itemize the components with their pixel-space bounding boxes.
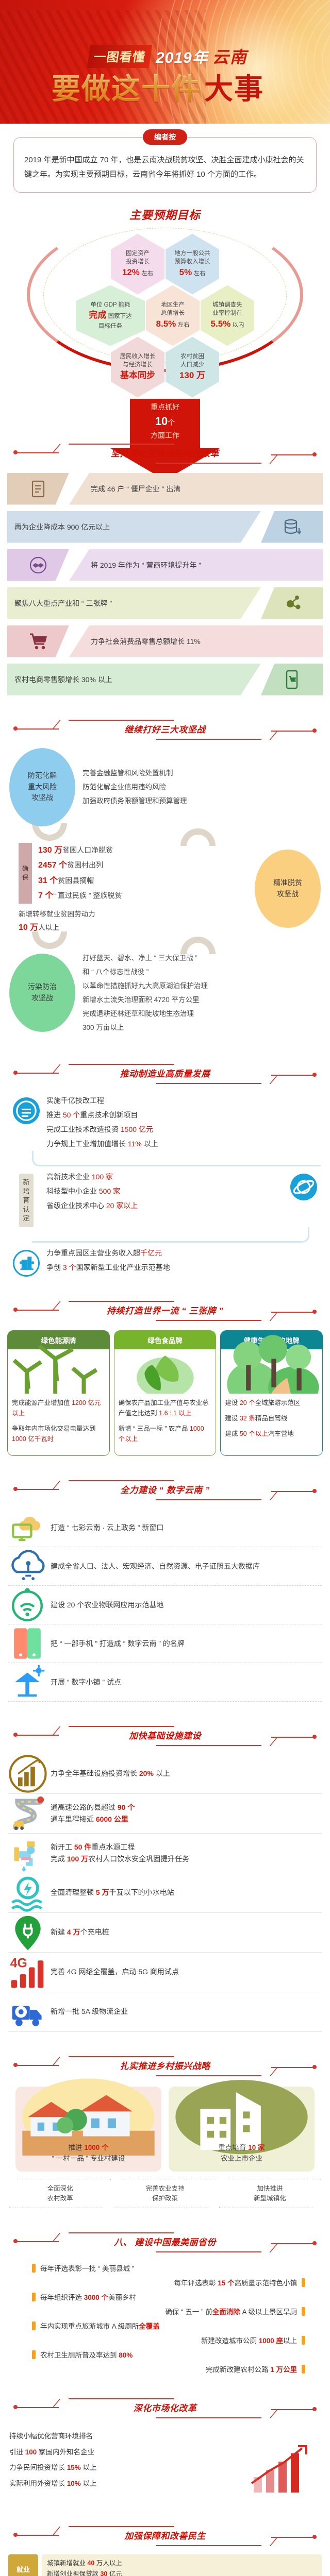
section-title: 八、 建设中国最美丽省份	[114, 2235, 216, 2248]
header-dot-right	[312, 2535, 317, 2539]
hydropower-icon	[8, 1873, 47, 1912]
digital-icon	[8, 1586, 46, 1624]
target-suffix: 左右	[177, 322, 189, 328]
ribbon-icon-box	[261, 511, 323, 543]
editor-note: 编者按 2019 年是新中国成立 70 年，也是云南决战脱贫攻坚、决胜全面建成小…	[13, 137, 317, 193]
target-label: 固定资产投资增长	[126, 249, 150, 266]
brand-card-item: 争取年内市场化交易电量达到 1000 亿千瓦时	[12, 1423, 105, 1444]
battle-point: 新增水土流失治理面积 4720 平方公里	[82, 993, 313, 1007]
block-line: 力争重点园区主营业务收入超千亿元	[46, 1246, 321, 1260]
market-reform-block: 持续小幅优化营商环境排名引进 100 家国内外知名企业力争民间投资增长 15% …	[0, 2425, 330, 2502]
block-line: 争创 3 个国家新型工业化产业示范基地	[46, 1260, 321, 1275]
brand-card-item: 新增 “ 三品一标 ” 农产品 1000 个以上	[119, 1423, 212, 1444]
network-node-icon	[282, 593, 302, 614]
section-title: 继续打好三大攻坚战	[124, 722, 206, 735]
highway-icon	[8, 1794, 47, 1833]
beautiful-item: 每年评选表彰 15 个高质量示范特色小镇	[9, 2277, 321, 2287]
manufacturing-block: 实施千亿技改工程推进 50 个重点技术创新项目完成工业技术改造投资 1500 亿…	[0, 1090, 330, 1151]
battle-row: 污染防治攻坚战打好蓝天、碧水、净土 “ 三大保卫战 ”和 “ 八个标志性战役 ”…	[0, 951, 330, 1035]
section-header-supply-side: 坚持深化供给侧结构性改革	[0, 437, 330, 470]
handshake-icon	[28, 555, 48, 575]
header-dot-right	[312, 728, 317, 733]
infra-icon	[8, 1913, 47, 1952]
ribbon-item[interactable]: 力争社会消费品零售总额增长 11%	[7, 625, 323, 657]
battle-point: 加强政府债务限额管理和预算管理	[82, 794, 313, 808]
cloud-data-icon	[8, 1547, 46, 1585]
section-title: 加快基础设施建设	[129, 1728, 201, 1741]
target-value: 基本同步	[120, 370, 155, 380]
brand-card-body: 确保农产品加工业产值与农业总产值之比达到 1.6 : 1 以上新增 “ 三品一标…	[114, 1394, 216, 1455]
target-value: 8.5%	[156, 319, 176, 329]
infra-item[interactable]: 4G完善 4G 网络全覆盖，启动 5G 商用试点	[8, 1953, 322, 1992]
ribbon-text: 完成 46 户 “ 僵尸企业 ” 出清	[69, 473, 323, 505]
battle-point: 以革命性措施抓好九大高原湖泊保护治理	[82, 979, 313, 993]
brand-card-body: 建设 20 个全域旅游示范区建设 32 条精品自驾线建成 50 个以上汽车营地	[221, 1394, 322, 1455]
digital-text: 把 “ 一部手机 ” 打造成 “ 数字云南 ” 的名牌	[46, 1638, 322, 1649]
target-suffix: 左右	[141, 270, 153, 277]
beautiful-text: 每年组织评选 3000 个美丽乡村	[36, 2292, 141, 2302]
brand-card-art	[221, 1349, 322, 1394]
battle-point: 打好蓝天、碧水、净土 “ 三大保卫战 ”和 “ 八个标志性战役 ”	[82, 951, 313, 979]
growth-arrow-chart	[244, 2440, 322, 2497]
section-header-three-cards: 持续打造世界一流 “ 三张牌 ”	[0, 1294, 330, 1327]
section-title: 持续打造世界一流 “ 三张牌 ”	[107, 1303, 223, 1316]
infra-icon	[8, 1873, 47, 1912]
digital-icon	[8, 1547, 46, 1585]
infra-icon	[8, 1794, 47, 1833]
block-line: 高新技术企业 100 家	[46, 1170, 287, 1184]
editor-note-body: 2019 年是新中国成立 70 年，也是云南决战脱贫攻坚、决胜全面建成小康社会的…	[13, 137, 317, 193]
digital-item[interactable]: 开展 “ 数字小镇 ” 试点	[8, 1663, 322, 1702]
infra-text: 通高速公路的县超过 90 个通车里程接近 6000 公里	[47, 1802, 322, 1825]
arrow-unit: 个	[168, 418, 175, 427]
beautiful-item: 年内实现重点旅游城市 A 级厕所全覆盖	[9, 2320, 321, 2331]
beautiful-text: 农村卫生厕所普及率达到 80%	[36, 2349, 137, 2360]
block-lines: 高新技术企业 100 家科技型中小企业 500 家省级企业技术中心 20 家以上	[43, 1170, 287, 1213]
battle-point: 完善金融监管和风险处置机制	[82, 766, 313, 780]
coin-stack-down-icon	[282, 517, 302, 537]
bullet-bar	[302, 2307, 305, 2316]
brand-card-body: 完成能源产业增加值 1200 亿元以上争取年内市场化交易电量达到 1000 亿千…	[8, 1394, 109, 1455]
beautiful-text: 年内实现重点旅游城市 A 级厕所全覆盖	[36, 2320, 164, 2331]
livelihood-table: 就业城镇新增就业 40 万人以上新增创业担保贷款 30 亿元卫生力争基本医保参保…	[0, 2552, 330, 2576]
infra-item[interactable]: 通高速公路的县超过 90 个通车里程接近 6000 公里	[8, 1794, 322, 1834]
digital-icon	[8, 1624, 46, 1663]
ensure-item: 130 万贫困人口净脱贫	[38, 843, 122, 858]
header-dot-right	[312, 2407, 317, 2411]
market-reform-line: 引进 100 家国内外知名企业	[9, 2445, 231, 2460]
ribbon-icon-box	[7, 549, 69, 581]
targets-hex-grid: 固定资产投资增长12% 左右地方一般公共预算收入增长5% 左右单位 GDP 能耗…	[0, 234, 330, 398]
brand-card[interactable]: 绿色食品牌确保农产品加工业产值与农业总产值之比达到 1.6 : 1 以上新增 “…	[114, 1330, 217, 1456]
digital-item[interactable]: 把 “ 一部手机 ” 打造成 “ 数字云南 ” 的名牌	[8, 1624, 322, 1663]
rural-tags: 全面深化农村改革完善农业支持保护政策加快推进新型城镇化	[0, 2172, 330, 2209]
rural-card-art	[20, 2094, 157, 2138]
digital-item[interactable]: 建设 20 个农业物联网应用示范基地	[8, 1586, 322, 1624]
block-icon: 新培育认定	[9, 1170, 43, 1227]
section-header-rural-revitalization: 扎实推进乡村振兴战略	[0, 2049, 330, 2082]
beautiful-item: 完成新改建农村公路 1 万公里	[9, 2364, 321, 2374]
hero-banner: 一图看懂 2019年 云南 要做这十件 大事	[0, 0, 330, 124]
block-lines: 实施千亿技改工程推进 50 个重点技术创新项目完成工业技术改造投资 1500 亿…	[43, 1093, 321, 1151]
section-title: 深化市场化改革	[134, 2401, 197, 2414]
logistics-truck-icon	[8, 1992, 47, 2031]
infra-text: 新建 4 万个充电桩	[47, 1926, 322, 1938]
rural-card-art	[173, 2094, 310, 2138]
planet-icon	[290, 1174, 317, 1200]
target-hex: 农村贫困人口减少130 万	[166, 337, 219, 398]
ensure-item: 2457 个贫困村出列	[38, 858, 122, 873]
faucet-icon	[8, 1834, 47, 1873]
infra-text: 力争全年基础设施投资增长 20% 以上	[47, 1768, 322, 1780]
main-targets-section: 主要预期目标 固定资产投资增长12% 左右地方一般公共预算收入增长5% 左右单位…	[0, 203, 330, 419]
block-line: 实施千亿技改工程	[46, 1093, 321, 1108]
battle-name-bubble: 防范化解重大风险攻坚战	[9, 748, 75, 826]
target-value: 12%	[122, 267, 140, 277]
infra-icon: 4G	[8, 1953, 47, 1992]
hero-main-a: 要做这十件	[52, 66, 201, 108]
brand-card-item: 建成 50 个以上汽车营地	[225, 1429, 318, 1439]
section-title: 推动制造业高质量发展	[120, 1066, 210, 1079]
hero-headline-top: 一图看懂 2019年 云南	[89, 44, 247, 68]
battle-subnote: 新增转移就业贫困劳动力10 万人以上	[9, 904, 255, 935]
target-value: 130 万	[179, 370, 205, 380]
section-header-livelihood: 加强保障和改善民生	[0, 2519, 330, 2552]
ribbon-text: 力争社会消费品零售总额增长 11%	[69, 625, 323, 657]
infra-text: 全面清理整顿 5 万千瓦以下的小水电站	[47, 1887, 322, 1899]
ensure-item: 7 个“ 直过民族 ” 整族脱贫	[38, 888, 122, 904]
infra-item[interactable]: 新开工 50 件重点水源工程完成 100 万农村人口饮水安全巩固提升任务	[8, 1834, 322, 1873]
svg-text:4G: 4G	[10, 1956, 27, 1970]
brand-card-item: 确保农产品加工业产值与农业总产值之比达到 1.6 : 1 以上	[119, 1398, 212, 1418]
block-connector	[32, 1151, 321, 1166]
battle-points: 打好蓝天、碧水、净土 “ 三大保卫战 ”和 “ 八个标志性战役 ”以革命性措施抓…	[75, 951, 321, 1035]
digital-text: 打造 “ 七彩云南 · 云上政务 ” 新窗口	[46, 1522, 322, 1533]
block-line: 力争规上工业增加值增长 11% 以上	[46, 1137, 321, 1151]
hero-province: 云南	[212, 44, 247, 68]
rural-tag[interactable]: 完善农业支持保护政策	[114, 2179, 216, 2209]
brand-card-item: 建设 32 条精品自驾线	[225, 1413, 318, 1423]
ensure-items: 130 万贫困人口净脱贫2457 个贫困村出列31 个贫困县摘帽7 个“ 直过民…	[32, 843, 122, 904]
beautiful-item: 新建改造城市公厕 1000 座以上	[9, 2335, 321, 2345]
block-line: 推进 50 个重点技术创新项目	[46, 1108, 321, 1122]
digital-text: 建设 20 个农业物联网应用示范基地	[46, 1599, 322, 1611]
infra-text: 新开工 50 件重点水源工程完成 100 万农村人口饮水安全巩固提升任务	[47, 1841, 322, 1865]
header-dot-right	[312, 2065, 317, 2069]
rural-cards: 推进 1000 个“ 一村一品 ” 专业村建设重点培育 10 家农业上市企业	[0, 2082, 330, 2172]
brand-card[interactable]: 绿色能源牌完成能源产业增加值 1200 亿元以上争取年内市场化交易电量达到 10…	[7, 1330, 110, 1456]
market-reform-line: 力争民间投资增长 15% 以上	[9, 2460, 231, 2476]
editor-note-badge: 编者按	[143, 129, 187, 145]
infra-icon	[8, 1754, 47, 1793]
battle-row: 防范化解重大风险攻坚战完善金融监管和风险处置机制防范化解企业信用违约风险加强政府…	[0, 748, 330, 826]
bullet-bar	[302, 2278, 305, 2287]
hero-tag: 一图看懂	[87, 45, 152, 68]
ribbon-item[interactable]: 完成 46 户 “ 僵尸企业 ” 出清	[7, 473, 323, 505]
arrow-top-label: 重点抓好	[110, 402, 220, 413]
ribbon-item[interactable]: 聚焦八大重点产业和 “ 三张牌 ”	[7, 587, 323, 619]
bullet-bar	[32, 2264, 36, 2273]
livelihood-category: 就业	[8, 2554, 38, 2576]
beautiful-text: 确保 “ 五一 ” 前全面消除 A 级以上景区旱厕	[160, 2306, 302, 2316]
infra-item[interactable]: 新增一批 5A 级物流企业	[8, 1992, 322, 2032]
section-title: 坚持深化供给侧结构性改革	[111, 446, 219, 459]
two-phones-icon	[8, 1624, 46, 1663]
block-side-icon	[287, 1170, 321, 1200]
battle-name-bubble: 污染防治攻坚战	[9, 954, 75, 1032]
beautiful-item: 每年评选表彰一批 “ 美丽县城 ”	[9, 2263, 321, 2273]
target-label: 地方一般公共预算收入增长	[175, 249, 210, 266]
beautiful-text: 新建改造城市公厕 1000 座以上	[196, 2335, 302, 2345]
ribbon-text: 农村电商零售额增长 30% 以上	[7, 664, 261, 696]
infra-icon	[8, 1992, 47, 2031]
infra-list: 力争全年基础设施投资增长 20% 以上通高速公路的县超过 90 个通车里程接近 …	[0, 1752, 330, 2032]
block-line: 省级企业技术中心 20 家以上	[46, 1198, 287, 1213]
infra-item[interactable]: 新建 4 万个充电桩	[8, 1913, 322, 1953]
beautiful-item: 农村卫生厕所普及率达到 80%	[9, 2349, 321, 2360]
ribbon-icon-box	[7, 625, 69, 657]
block-connector	[32, 1227, 309, 1243]
beautiful-text: 完成新改建农村公路 1 万公里	[201, 2364, 302, 2374]
manufacturing-block: 力争重点园区主营业务收入超千亿元争创 3 个国家新型工业化产业示范基地	[0, 1243, 330, 1277]
header-dot-right	[312, 1489, 317, 1493]
digital-icon	[8, 1509, 46, 1547]
market-reform-line: 实际利用外资增长 10% 以上	[9, 2476, 231, 2492]
brand-card-item: 完成能源产业增加值 1200 亿元以上	[12, 1398, 105, 1418]
block-line: 完成工业技术改造投资 1500 亿元	[46, 1122, 321, 1137]
bullet-bar	[32, 2321, 36, 2330]
header-dot-right	[312, 1310, 317, 1314]
header-dot-right	[312, 452, 317, 456]
ribbon-icon-box	[261, 587, 323, 619]
main-targets-title: 主要预期目标	[129, 206, 201, 223]
sections-container: 坚持深化供给侧结构性改革完成 46 户 “ 僵尸企业 ” 出清再为企业降成本 9…	[0, 437, 330, 2576]
header-dot-right	[312, 2241, 317, 2245]
ribbon-text: 将 2019 年作为 “ 营商环境提升年 ”	[69, 549, 323, 581]
target-suffix: 左右	[193, 270, 205, 277]
beautiful-list: 每年评选表彰一批 “ 美丽县城 ”每年评选表彰 15 个高质量示范特色小镇每年组…	[0, 2259, 330, 2374]
hero-year: 2019年	[156, 45, 208, 67]
target-label: 单位 GDP 能耗	[90, 301, 130, 310]
manufacturing-block: 新培育认定高新技术企业 100 家科技型中小企业 500 家省级企业技术中心 2…	[0, 1166, 330, 1227]
iot-wifi-icon	[8, 1586, 46, 1624]
target-label: 地区生产总值增长	[161, 301, 185, 318]
livelihood-row: 就业城镇新增就业 40 万人以上新增创业担保贷款 30 亿元	[8, 2554, 322, 2576]
section-header-manufacturing: 推动制造业高质量发展	[0, 1057, 330, 1090]
section-title: 全力建设 “ 数字云南 ”	[120, 1483, 210, 1496]
digital-town-icon	[8, 1663, 46, 1701]
target-label: 居民收入增长与经济增长	[120, 352, 156, 369]
block-lines: 力争重点园区主营业务收入超千亿元争创 3 个国家新型工业化产业示范基地	[43, 1246, 321, 1275]
ribbon-list: 完成 46 户 “ 僵尸企业 ” 出清再为企业降成本 900 亿元以上将 201…	[7, 473, 323, 696]
target-suffix: 以内	[232, 322, 244, 328]
infra-text: 新增一批 5A 级物流企业	[47, 2006, 322, 2018]
document-icon	[28, 479, 48, 499]
hero-main-b: 大事	[204, 66, 264, 108]
rural-tag[interactable]: 加快推进新型城镇化	[219, 2179, 321, 2209]
brand-card-item: 建设 20 个全域旅游示范区	[225, 1398, 318, 1408]
section-header-market-reform: 深化市场化改革	[0, 2392, 330, 2425]
bullet-bar	[302, 2336, 305, 2345]
beautiful-item: 确保 “ 五一 ” 前全面消除 A 级以上景区旱厕	[9, 2306, 321, 2316]
rural-card[interactable]: 推进 1000 个“ 一村一品 ” 专业村建设	[15, 2087, 161, 2172]
brand-card-art	[114, 1349, 216, 1394]
battle-point: 防范化解企业信用违约风险	[82, 780, 313, 794]
market-reform-line: 持续小幅优化营商环境排名	[9, 2429, 231, 2444]
ensure-block: 确保130 万贫困人口净脱贫2457 个贫困村出列31 个贫困县摘帽7 个“ 直…	[9, 843, 255, 904]
bullet-bar	[302, 2365, 305, 2374]
ensure-item: 31 个贫困县摘帽	[38, 873, 122, 889]
ribbon-icon-box	[261, 664, 323, 696]
ribbon-item[interactable]: 农村电商零售额增长 30% 以上	[7, 664, 323, 696]
target-value: 完成	[89, 310, 106, 320]
block-icon	[9, 1246, 43, 1277]
infra-item[interactable]: 力争全年基础设施投资增长 20% 以上	[8, 1754, 322, 1794]
brand-card[interactable]: 健康生活目的地牌建设 20 个全域旅游示范区建设 32 条精品自驾线建成 50 …	[220, 1330, 323, 1456]
header-dot-right	[312, 1735, 317, 1739]
digital-item[interactable]: 打造 “ 七彩云南 · 云上政务 ” 新窗口	[8, 1509, 322, 1547]
4g-signal-icon: 4G	[8, 1953, 47, 1992]
ribbon-icon-box	[7, 473, 69, 505]
ribbon-item[interactable]: 将 2019 年作为 “ 营商环境提升年 ”	[7, 549, 323, 581]
battles-block: 防范化解重大风险攻坚战完善金融监管和风险处置机制防范化解企业信用违约风险加强政府…	[0, 748, 330, 1040]
market-reform-lines: 持续小幅优化营商环境排名引进 100 家国内外知名企业力争民间投资增长 15% …	[9, 2429, 231, 2492]
target-value: 5%	[179, 267, 192, 277]
section-header-digital-yunnan: 全力建设 “ 数字云南 ”	[0, 1473, 330, 1506]
target-label: 城镇调查失业率控制在	[212, 301, 242, 318]
rural-card[interactable]: 重点培育 10 家农业上市企业	[169, 2087, 315, 2172]
battle-row: 精准脱贫攻坚战确保130 万贫困人口净脱贫2457 个贫困村出列31 个贫困县摘…	[0, 843, 330, 935]
digital-icon	[8, 1663, 46, 1701]
battle-point: 完成退耕还林还草和陡坡地生态治理300 万亩以上	[82, 1007, 313, 1035]
livelihood-detail: 城镇新增就业 40 万人以上新增创业担保贷款 30 亿元	[42, 2554, 322, 2576]
digital-text: 开展 “ 数字小镇 ” 试点	[46, 1676, 322, 1688]
shopping-cart-icon	[28, 631, 48, 652]
section-title: 加强保障和改善民生	[124, 2529, 206, 2541]
beautiful-text: 每年评选表彰 15 个高质量示范特色小镇	[169, 2277, 302, 2287]
target-value: 5.5%	[211, 319, 231, 329]
block-icon	[9, 1093, 43, 1124]
factory-icon	[14, 1251, 38, 1275]
arrow-number: 10	[155, 415, 168, 428]
target-label: 农村贫困人口减少	[180, 352, 204, 369]
digital-item[interactable]: 建成全省人口、法人、宏观经济、自然资源、电子证照五大数据库	[8, 1547, 322, 1586]
section-title: 扎实推进乡村振兴战略	[120, 2059, 210, 2072]
beautiful-item: 每年组织评选 3000 个美丽乡村	[9, 2292, 321, 2302]
beautiful-text: 每年评选表彰一批 “ 美丽县城 ”	[36, 2263, 139, 2273]
growth-chart-icon	[8, 1754, 47, 1793]
mobile-cart-icon	[282, 669, 302, 690]
gear-document-icon	[13, 1097, 40, 1124]
block-tag: 新培育认定	[19, 1174, 34, 1227]
battle-points: 完善金融监管和风险处置机制防范化解企业信用违约风险加强政府债务限额管理和预算管理	[75, 766, 321, 808]
rural-tag[interactable]: 全面深化农村改革	[9, 2179, 111, 2209]
infra-text: 完善 4G 网络全覆盖，启动 5G 商用试点	[47, 1966, 322, 1978]
cloud-monitor-icon	[8, 1509, 46, 1547]
digital-text: 建成全省人口、法人、宏观经济、自然资源、电子证照五大数据库	[46, 1561, 322, 1572]
bullet-bar	[32, 2293, 36, 2301]
infra-item[interactable]: 全面清理整顿 5 万千瓦以下的小水电站	[8, 1873, 322, 1913]
ribbon-text: 聚焦八大重点产业和 “ 三张牌 ”	[7, 587, 261, 619]
ribbon-text: 再为企业降成本 900 亿元以上	[7, 511, 261, 543]
infographic-page: 一图看懂 2019年 云南 要做这十件 大事 编者按 2019 年是新中国成立 …	[0, 0, 330, 2576]
infra-icon	[8, 1834, 47, 1873]
header-dot-right	[312, 1073, 317, 1077]
brand-card-art	[8, 1349, 109, 1394]
block-line: 科技型中小企业 500 家	[46, 1184, 287, 1198]
ensure-tag: 确保	[19, 843, 32, 904]
charging-pin-icon	[8, 1913, 47, 1952]
section-header-three-battles: 继续打好三大攻坚战	[0, 713, 330, 746]
three-brands-cards: 绿色能源牌完成能源产业增加值 1200 亿元以上争取年内市场化交易电量达到 10…	[0, 1327, 330, 1456]
target-hex: 居民收入增长与经济增长基本同步	[111, 337, 164, 398]
hero-headline-main: 要做这十件 大事	[52, 66, 264, 108]
bullet-bar	[32, 2350, 36, 2359]
ribbon-item[interactable]: 再为企业降成本 900 亿元以上	[7, 511, 323, 543]
section-header-infrastructure: 加快基础设施建设	[0, 1719, 330, 1752]
section-header-beautiful-province: 八、 建设中国最美丽省份	[0, 2226, 330, 2259]
digital-list: 打造 “ 七彩云南 · 云上政务 ” 新窗口建成全省人口、法人、宏观经济、自然资…	[0, 1506, 330, 1702]
battle-name-bubble: 精准脱贫攻坚战	[255, 850, 321, 928]
